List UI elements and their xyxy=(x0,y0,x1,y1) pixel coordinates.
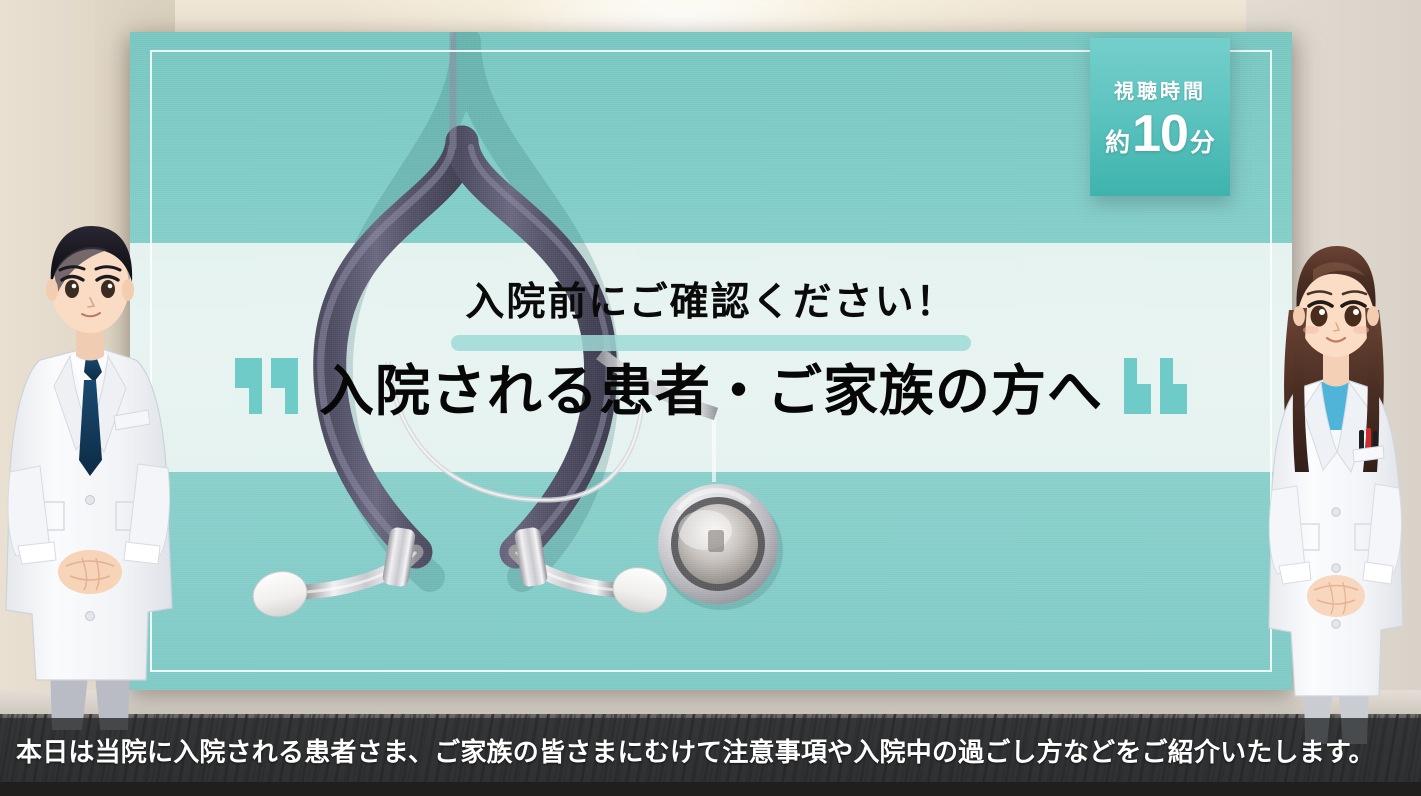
subtitle-highlight-bar xyxy=(451,335,971,351)
subtitle-text: 入院前にご確認ください！ xyxy=(451,271,970,327)
duration-badge-label: 視聴時間 xyxy=(1114,75,1206,104)
duration-badge: 視聴時間 約 10 分 xyxy=(1090,38,1230,196)
title-block: 入院前にご確認ください！ 入院される患者・ご家族の方へ xyxy=(130,243,1292,472)
quote-open-icon xyxy=(235,358,301,414)
subtitle-wrap: 入院前にご確認ください！ xyxy=(130,271,1292,327)
character-doctor-male xyxy=(0,210,182,730)
duration-badge-value: 約 10 分 xyxy=(1105,110,1215,159)
character-nurse-female xyxy=(1253,224,1419,744)
main-title-wrap: 入院される患者・ご家族の方へ xyxy=(130,346,1292,426)
duration-number: 10 xyxy=(1132,110,1188,159)
duration-approx-prefix: 約 xyxy=(1105,123,1130,159)
main-title-text: 入院される患者・ご家族の方へ xyxy=(319,346,1103,426)
quote-close-icon xyxy=(1121,358,1187,414)
presentation-board: 入院前にご確認ください！ 入院される患者・ご家族の方へ 視聴時間 約 10 分 xyxy=(130,32,1292,690)
caption-text: 本日は当院に入院される患者さま、ご家族の皆さまにむけて注意事項や入院中の過ごし方… xyxy=(0,732,1375,769)
caption-bottom-strip xyxy=(0,782,1421,796)
caption-bar: 本日は当院に入院される患者さま、ご家族の皆さまにむけて注意事項や入院中の過ごし方… xyxy=(0,718,1421,782)
duration-unit: 分 xyxy=(1190,123,1215,159)
slide-stage: 入院前にご確認ください！ 入院される患者・ご家族の方へ 視聴時間 約 10 分 xyxy=(0,0,1421,796)
